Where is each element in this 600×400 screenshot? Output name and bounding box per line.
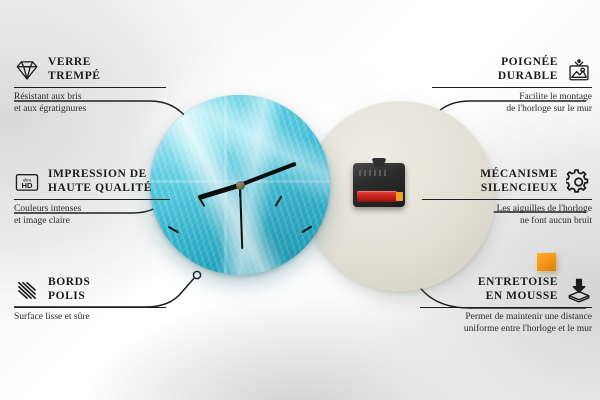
clock-front-face — [150, 95, 330, 275]
feature-bords-polis: BORDS POLIS Surface lisse et sûre — [14, 276, 166, 324]
polished-edges-icon — [14, 277, 40, 303]
feature-entretoise-en-mousse: ENTRETOISE EN MOUSSE Permet de maintenir… — [420, 276, 592, 335]
battery — [357, 191, 397, 202]
ultra-hd-badge-icon: ultra HD — [14, 169, 40, 195]
infographic-canvas: VERRE TREMPÉ Résistant aux bris et aux é… — [0, 0, 600, 400]
feature-poignee-durable: POIGNÉE DURABLE Facilite le montage de l… — [432, 56, 592, 115]
feature-description: Surface lisse et sûre — [14, 312, 166, 324]
feature-description: Couleurs intenses et image claire — [14, 204, 170, 227]
svg-text:HD: HD — [21, 181, 33, 190]
foam-spacer-icon — [566, 277, 592, 303]
divider — [14, 307, 166, 308]
product-image — [140, 95, 470, 300]
feature-mecanisme-silencieux: MÉCANISME SILENCIEUX Les aiguilles de l'… — [422, 168, 592, 227]
clock-mechanism — [353, 163, 405, 207]
hanging-frame-icon — [566, 57, 592, 83]
divider — [432, 87, 592, 88]
divider — [420, 307, 592, 308]
feature-description: Résistant aux bris et aux égratignures — [14, 92, 166, 115]
feature-verre-trempe: VERRE TREMPÉ Résistant aux bris et aux é… — [14, 56, 166, 115]
feature-description: Permet de maintenir une distance uniform… — [420, 312, 592, 335]
feature-description: Les aiguilles de l'horloge ne font aucun… — [422, 204, 592, 227]
hour-tick — [157, 267, 169, 269]
feature-title: POIGNÉE DURABLE — [498, 56, 558, 83]
divider — [422, 199, 592, 200]
feature-title: BORDS POLIS — [48, 276, 90, 303]
battery-terminal — [396, 192, 403, 201]
divider — [14, 87, 166, 88]
feature-title: MÉCANISME SILENCIEUX — [480, 168, 558, 195]
gear-icon — [566, 169, 592, 195]
mechanism-label — [359, 170, 389, 176]
divider — [14, 199, 170, 200]
diamond-icon — [14, 57, 40, 83]
feature-title: IMPRESSION DE HAUTE QUALITÉ — [48, 168, 152, 195]
feature-impression-haute-qualite: ultra HD IMPRESSION DE HAUTE QUALITÉ Cou… — [14, 168, 170, 227]
feature-description: Facilite le montage de l'horloge sur le … — [432, 92, 592, 115]
feature-title: ENTRETOISE EN MOUSSE — [478, 276, 558, 303]
hands-center-cap — [236, 181, 245, 190]
feature-title: VERRE TREMPÉ — [48, 56, 101, 83]
foam-spacer-sample — [537, 253, 556, 271]
